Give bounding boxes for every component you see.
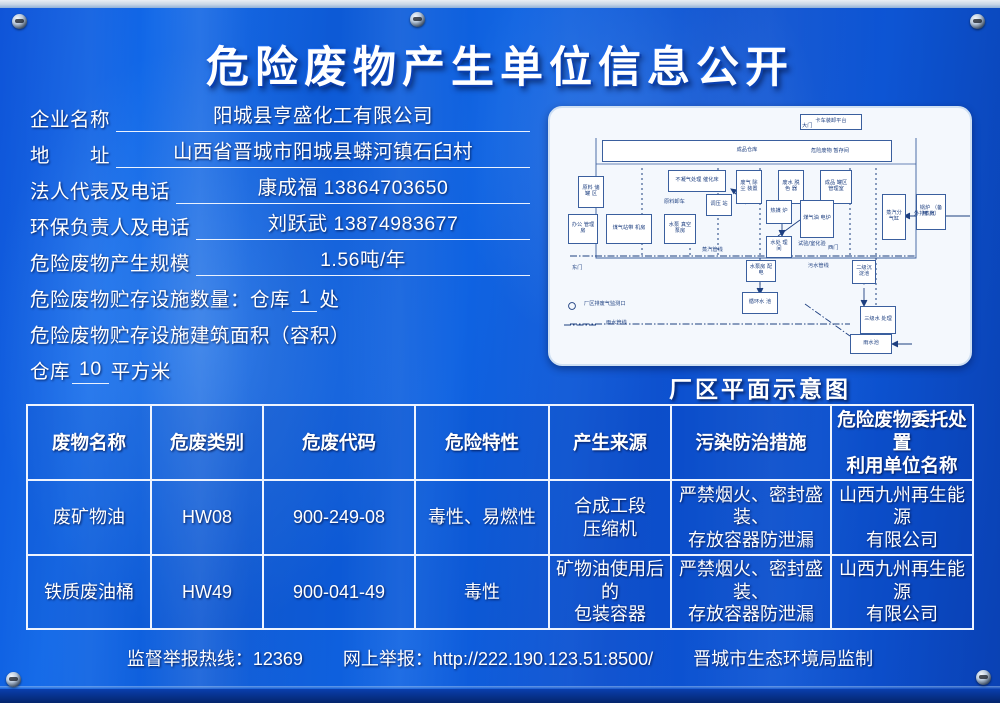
info-unit: 处 — [319, 283, 339, 312]
table-header-cell: 危废类别 — [150, 406, 262, 479]
diagram-label: 西门 — [828, 246, 838, 252]
diagram-box: 办公 管理房 — [568, 214, 598, 244]
table-row: 废矿物油 HW08 900-249-08 毒性、易燃性 合成工段 压缩机 严禁烟… — [28, 479, 972, 553]
info-label: 环保负责人及电话 — [30, 211, 190, 240]
footer-hotline: 监督举报热线：12369 — [127, 645, 303, 671]
table-cell-category: HW49 — [150, 556, 262, 628]
info-value: 1.56吨/年 — [196, 243, 530, 276]
diagram-box: 煤气油 电炉 — [800, 200, 834, 238]
diagram-label: 雨水管线 — [606, 321, 627, 327]
table-header-cell: 危险特性 — [414, 406, 548, 479]
table-header-cell: 污染防治措施 — [670, 406, 830, 479]
table-cell-hazard: 毒性 — [414, 556, 548, 628]
info-value: 刘跃武 13874983677 — [196, 207, 530, 240]
bolt-icon — [970, 14, 985, 29]
diagram-label: 污水管线 — [808, 264, 829, 270]
bolt-icon — [6, 672, 21, 687]
table-header-cell: 危废代码 — [262, 406, 414, 479]
diagram-box: 蒸汽分 气缸 — [882, 194, 906, 240]
footer-online-report: 网上举报：http://222.190.123.51:8500/ — [343, 645, 653, 671]
table-cell-disposal-unit: 山西九州再生能源 有限公司 — [830, 481, 972, 553]
table-cell-disposal-unit: 山西九州再生能源 有限公司 — [830, 556, 972, 628]
diagram-box: 调压 站 — [706, 194, 732, 216]
table-header-cell: 废物名称 — [28, 406, 150, 479]
footer-online-report-url[interactable]: http://222.190.123.51:8500/ — [433, 649, 653, 669]
table-row: 铁质废油桶 HW49 900-041-49 毒性 矿物油使用后的 包装容器 严禁… — [28, 554, 972, 628]
table-cell-waste-name: 铁质废油桶 — [28, 556, 150, 628]
page-title: 危险废物产生单位信息公开 — [0, 33, 1000, 95]
diagram-caption: 厂区平面示意图 — [548, 370, 972, 404]
footer-supervisor: 晋城市生态环境局监制 — [693, 645, 873, 671]
panel-top-edge — [0, 0, 1000, 8]
info-label: 法人代表及电话 — [30, 175, 170, 204]
signboard-panel: 危险废物产生单位信息公开 企业名称 阳城县亨盛化工有限公司 地 址 山西省晋城市… — [0, 0, 1000, 703]
diagram-label: 厂区排废气监测口 — [584, 302, 626, 308]
info-value: 1 — [292, 286, 317, 312]
info-label: 危险废物产生规模 — [30, 247, 190, 276]
table-cell-source: 矿物油使用后的 包装容器 — [548, 556, 670, 628]
table-cell-code: 900-249-08 — [262, 481, 414, 553]
info-label: 仓库 — [30, 355, 70, 384]
bolt-icon — [410, 12, 425, 27]
info-unit: 平方米 — [111, 355, 171, 384]
diagram-box: 原料 储罐 区 — [578, 176, 604, 208]
diagram-hazardous-waste-room-label: 危险废物 暂存间 — [808, 142, 852, 162]
diagram-box: 水泵 真空 泵房 — [664, 214, 696, 244]
table-cell-category: HW08 — [150, 481, 262, 553]
info-label: 危险废物贮存设施数量：仓库 — [30, 283, 290, 312]
info-label: 危险废物贮存设施建筑面积（容积） — [30, 319, 350, 348]
diagram-box: 煤气站带 机房 — [606, 214, 652, 244]
info-label: 地 址 — [30, 139, 110, 168]
info-value: 康成福 13864703650 — [176, 171, 530, 204]
diagram-box: 水泵房 配电 — [746, 260, 776, 282]
company-info-block: 企业名称 阳城县亨盛化工有限公司 地 址 山西省晋城市阳城县蟒河镇石臼村 法人代… — [30, 96, 530, 384]
diagram-box: 成品 罐区 管理室 — [820, 170, 852, 204]
factory-layout-diagram: ★ 成品仓库 卡车装卸平台 不凝气处理 催化床 废气 除尘 装置 废水 脱色 器… — [548, 106, 972, 366]
diagram-label: 大门 — [802, 124, 812, 130]
diagram-label: 试验/室化验 — [798, 242, 826, 248]
table-header-cell: 产生来源 — [548, 406, 670, 479]
panel-bottom-edge — [0, 689, 1000, 703]
info-value: 10 — [72, 358, 109, 384]
diagram-box: 不凝气处理 催化床 — [668, 170, 726, 192]
footer-online-report-label: 网上举报： — [343, 649, 433, 669]
table-cell-code: 900-041-49 — [262, 556, 414, 628]
diagram-box: 热媒 炉 — [766, 200, 792, 224]
hazardous-waste-table: 废物名称 危废类别 危废代码 危险特性 产生来源 污染防治措施 危险废物委托处置… — [26, 404, 974, 630]
diagram-box: 水处 理间 — [766, 236, 792, 258]
footer-bar: 监督举报热线：12369 网上举报：http://222.190.123.51:… — [0, 645, 1000, 671]
diagram-box: 三级水 处理 — [860, 306, 896, 334]
table-header-cell: 危险废物委托处置 利用单位名称 — [830, 406, 972, 479]
info-row-legal-rep: 法人代表及电话 康成福 13864703650 — [30, 168, 530, 204]
info-row-generation-scale: 危险废物产生规模 1.56吨/年 — [30, 240, 530, 276]
table-cell-measures: 严禁烟火、密封盛装、 存放容器防泄漏 — [670, 481, 830, 553]
table-cell-hazard: 毒性、易燃性 — [414, 481, 548, 553]
diagram-label: 东门 — [572, 266, 582, 272]
diagram-box: 二级沉淀池 — [852, 260, 876, 284]
table-cell-measures: 严禁烟火、密封盛装、 存放容器防泄漏 — [670, 556, 830, 628]
info-row-storage-count: 危险废物贮存设施数量：仓库 1 处 — [30, 276, 530, 312]
info-row-storage-area-label: 危险废物贮存设施建筑面积（容积） — [30, 312, 530, 348]
diagram-label: 蒸汽管线 — [702, 248, 723, 254]
info-label: 企业名称 — [30, 103, 110, 132]
diagram-label: 外排蒸汽 — [914, 212, 935, 218]
diagram-box: 废水 脱色 器 — [778, 170, 804, 204]
bolt-icon — [976, 670, 991, 685]
info-value: 阳城县亨盛化工有限公司 — [116, 99, 530, 132]
diagram-box: 循环水 池 — [742, 292, 778, 314]
info-row-storage-area-value: 仓库 10 平方米 — [30, 348, 530, 384]
table-cell-waste-name: 废矿物油 — [28, 481, 150, 553]
diagram-box: 废气 除尘 装置 — [736, 170, 762, 204]
diagram-label: 原料卸车 — [664, 200, 685, 206]
diagram-box: 雨水池 — [850, 334, 892, 354]
table-header-row: 废物名称 危废类别 危废代码 危险特性 产生来源 污染防治措施 危险废物委托处置… — [28, 406, 972, 479]
info-row-company-name: 企业名称 阳城县亨盛化工有限公司 — [30, 96, 530, 132]
info-row-address: 地 址 山西省晋城市阳城县蟒河镇石臼村 — [30, 132, 530, 168]
info-value: 山西省晋城市阳城县蟒河镇石臼村 — [116, 135, 530, 168]
bolt-icon — [12, 14, 27, 29]
table-cell-source: 合成工段 压缩机 — [548, 481, 670, 553]
info-row-env-officer: 环保负责人及电话 刘跃武 13874983677 — [30, 204, 530, 240]
